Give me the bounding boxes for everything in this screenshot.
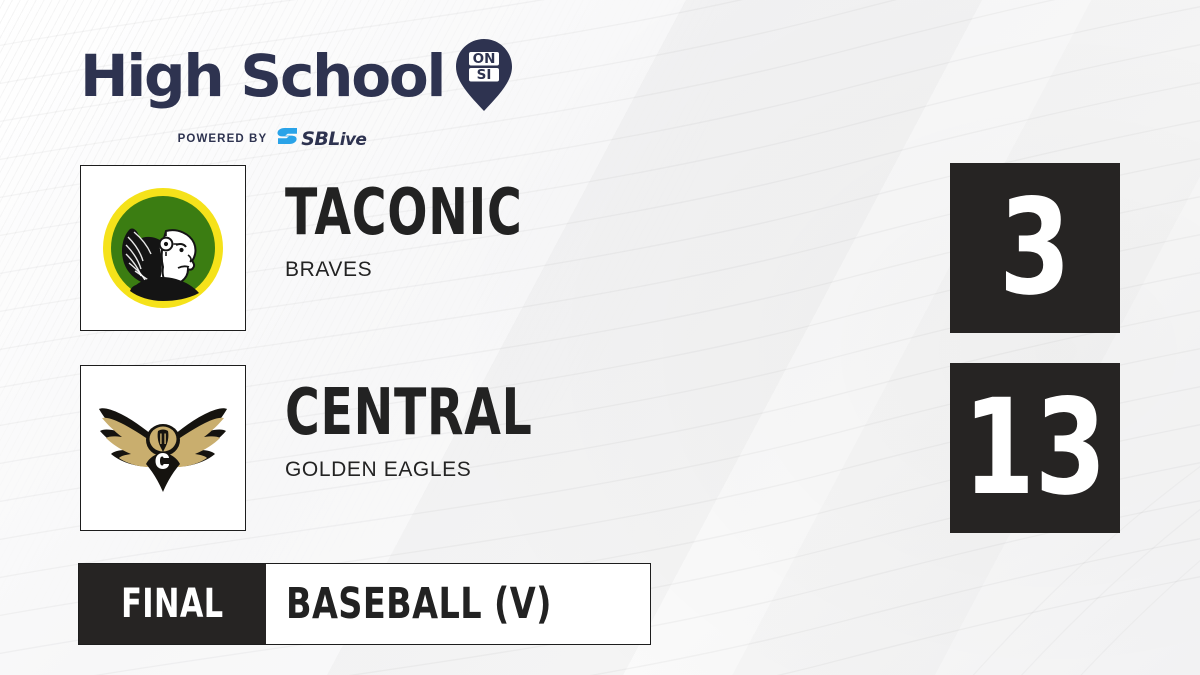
team-score-box: 13 <box>950 363 1120 533</box>
team-logo-box <box>80 365 246 531</box>
taconic-braves-logo <box>100 185 226 311</box>
team-mascot: BRAVES <box>285 258 925 282</box>
team-score: 3 <box>999 182 1071 314</box>
score-graphic: High School ON SI POWERED BY SB <box>0 0 1200 675</box>
brand-lockup: High School ON SI POWERED BY SB <box>80 36 510 151</box>
status-badge: FINAL <box>79 564 266 644</box>
team-name: CENTRAL <box>285 383 759 444</box>
brand-title-row: High School ON SI <box>80 36 510 117</box>
team-mascot: GOLDEN EAGLES <box>285 458 925 482</box>
brand-wordmark: High School <box>80 49 444 104</box>
game-status-bar: FINAL BASEBALL (V) <box>78 563 651 645</box>
team-logo-box <box>80 165 246 331</box>
sblive-bolt-icon <box>276 126 298 151</box>
svg-text:SI: SI <box>477 67 492 83</box>
team-name: TACONIC <box>285 183 759 244</box>
sblive-wordmark: SBLive <box>301 128 366 150</box>
team-text-block: TACONIC BRAVES <box>285 183 925 282</box>
central-golden-eagles-logo <box>97 396 229 500</box>
team-text-block: CENTRAL GOLDEN EAGLES <box>285 383 925 482</box>
status-badge-label: FINAL <box>121 584 223 624</box>
team-score: 13 <box>963 382 1106 514</box>
powered-by-label: POWERED BY <box>178 133 268 145</box>
sblive-wordmark-lower: ive <box>340 130 367 150</box>
sport-label: BASEBALL (V) <box>286 583 552 626</box>
sport-label-container: BASEBALL (V) <box>266 564 651 644</box>
location-pin-icon: ON SI <box>454 38 514 117</box>
sblive-logo: SBLive <box>276 126 366 151</box>
sblive-wordmark-upper: SBL <box>301 128 339 150</box>
team-score-box: 3 <box>950 163 1120 333</box>
svg-text:ON: ON <box>473 51 496 67</box>
powered-by-row: POWERED BY SBLive <box>80 126 510 151</box>
